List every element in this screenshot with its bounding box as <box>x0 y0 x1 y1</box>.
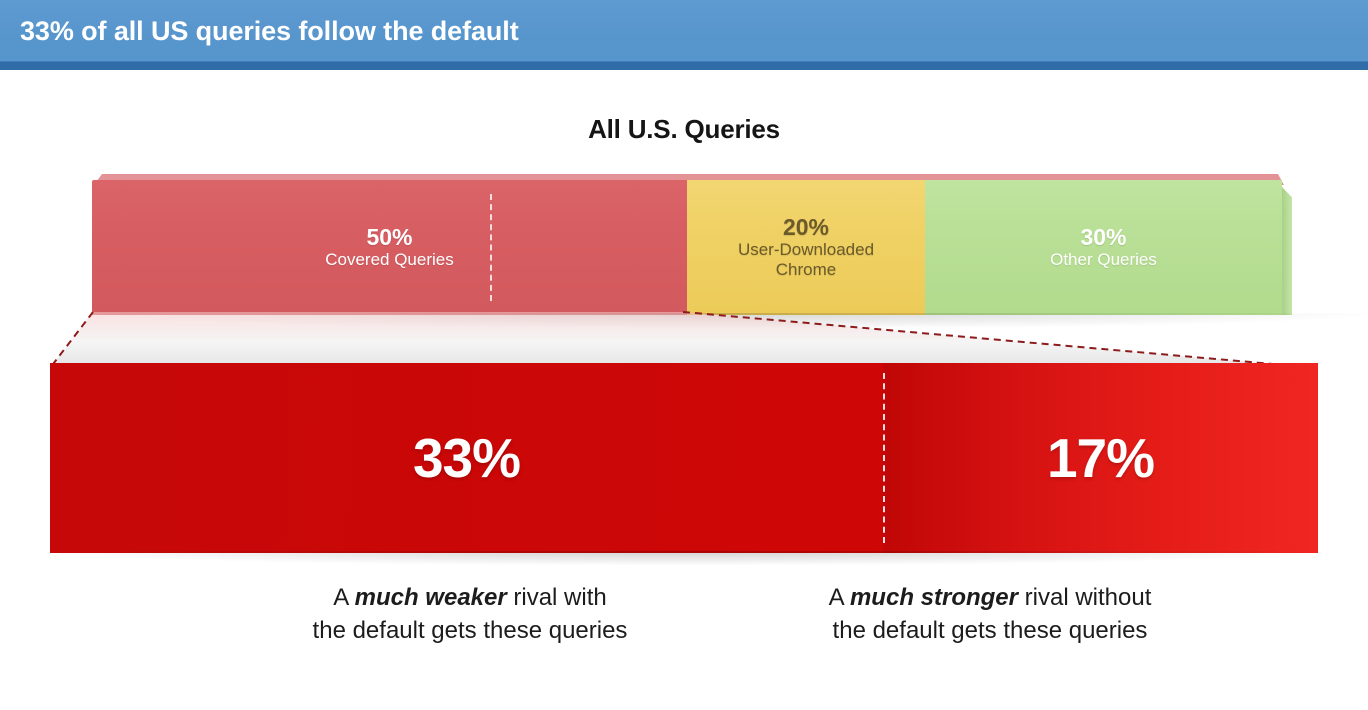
chart-area: All U.S. Queries 50% Covered Queries 20%… <box>0 70 1368 710</box>
bar-segment-33-percent[interactable]: 33% <box>50 363 883 553</box>
callout-line-left <box>50 312 93 368</box>
segment-percent: 50% <box>366 225 412 251</box>
bar-segment-covered-queries[interactable]: 50% Covered Queries <box>92 180 687 315</box>
segment-label: User-Downloaded Chrome <box>738 240 874 280</box>
caption-right-line1-post: rival without <box>1018 584 1151 611</box>
segment-percent: 20% <box>783 215 829 241</box>
top-bar-side-face-icon <box>1282 187 1292 315</box>
chart-title-text: All U.S. Queries <box>588 114 780 145</box>
page-title: 33% of all US queries follow the default <box>20 16 519 47</box>
top-bar-drop-shadow <box>98 313 1368 329</box>
segment-label-line2: Chrome <box>776 260 836 279</box>
bottom-bar-segments: 33% 17% <box>50 363 1318 553</box>
segment-label: Other Queries <box>1050 250 1157 270</box>
caption-left-emphasis: much weaker <box>355 584 507 611</box>
caption-left-line1-pre: A <box>333 584 354 611</box>
header-banner: 33% of all US queries follow the default <box>0 0 1368 70</box>
caption-right: A much stronger rival without the defaul… <box>665 582 1315 647</box>
segment-percent: 30% <box>1080 225 1126 251</box>
bar-segment-17-percent[interactable]: 17% <box>883 363 1318 553</box>
caption-left-line1-post: rival with <box>507 584 607 611</box>
caption-right-emphasis: much stronger <box>850 584 1018 611</box>
bar-segment-other-queries[interactable]: 30% Other Queries <box>925 180 1282 315</box>
bar-segment-user-downloaded-chrome[interactable]: 20% User-Downloaded Chrome <box>687 180 925 315</box>
top-stacked-bar: 50% Covered Queries 20% User-Downloaded … <box>88 173 1284 321</box>
caption-right-line2: the default gets these queries <box>665 615 1315 648</box>
caption-right-line1-pre: A <box>829 584 850 611</box>
segment-percent: 33% <box>413 431 520 486</box>
segment-label: Covered Queries <box>325 250 454 270</box>
chart-title: All U.S. Queries <box>0 114 1368 145</box>
bottom-zoom-bar: 33% 17% <box>50 363 1318 555</box>
segment-label-line1: User-Downloaded <box>738 240 874 259</box>
top-bar-segments: 50% Covered Queries 20% User-Downloaded … <box>92 180 1282 315</box>
caption-right-line1: A much stronger rival without <box>665 582 1315 615</box>
bottom-bar-drop-shadow <box>56 551 1312 565</box>
segment-percent: 17% <box>1047 431 1154 486</box>
